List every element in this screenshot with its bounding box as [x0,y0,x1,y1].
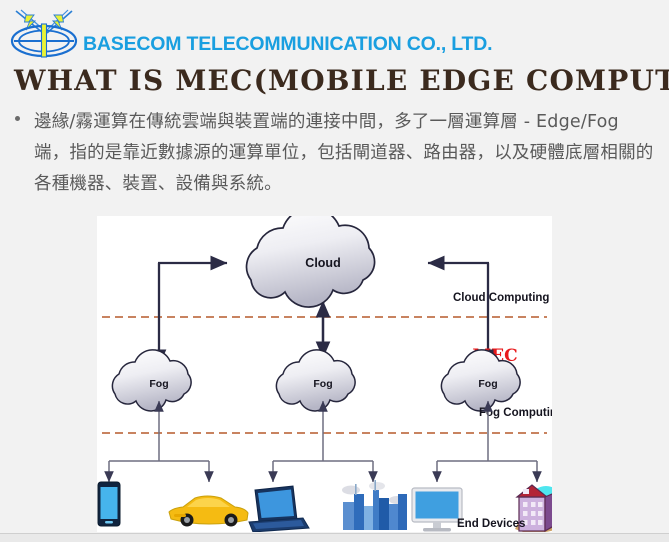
cloud-left-fog-link [158,263,227,366]
fog-label-left: Fog [149,378,168,390]
end-devices-label: End Devices [457,518,525,530]
desktop-computer-icon [412,488,462,532]
bullet-paragraph: 邊緣/霧運算在傳統雲端與裝置端的連接中間，多了一層運算層 - Edge/Fog … [12,107,657,200]
laptop-icon [249,486,309,532]
city-skyline-icon [342,480,407,530]
sports-car-icon [169,496,248,527]
page-header: BASECOM TELECOMMUNICATION CO., LTD. [0,0,669,66]
fog-label-right: Fog [478,378,497,390]
cloud-node: Cloud [247,216,375,307]
fog-computing-label: Fog Computing [479,407,552,419]
fog-node-left: Fog [112,350,191,411]
bullet-text: 邊緣/霧運算在傳統雲端與裝置端的連接中間，多了一層運算層 - Edge/Fog … [34,107,657,200]
company-name: BASECOM TELECOMMUNICATION CO., LTD. [83,33,492,56]
fog-node-center: Fog [276,350,355,411]
basecom-antenna-globe-logo [6,6,84,61]
bullet-marker-icon [15,116,20,121]
cloud-label: Cloud [305,256,340,270]
fog-label-center: Fog [313,378,332,390]
cloud-computing-label: Cloud Computing [453,292,549,304]
fog-left-device-tree [109,401,209,482]
page-title: WHAT IS MEC(MOBILE EDGE COMPUTING) [14,64,669,97]
smartphone-icon [98,482,120,526]
mec-architecture-diagram: Cloud Cloud Computing MEC Fog Fog Fog Fo… [97,216,552,532]
fog-center-device-tree [273,401,373,482]
